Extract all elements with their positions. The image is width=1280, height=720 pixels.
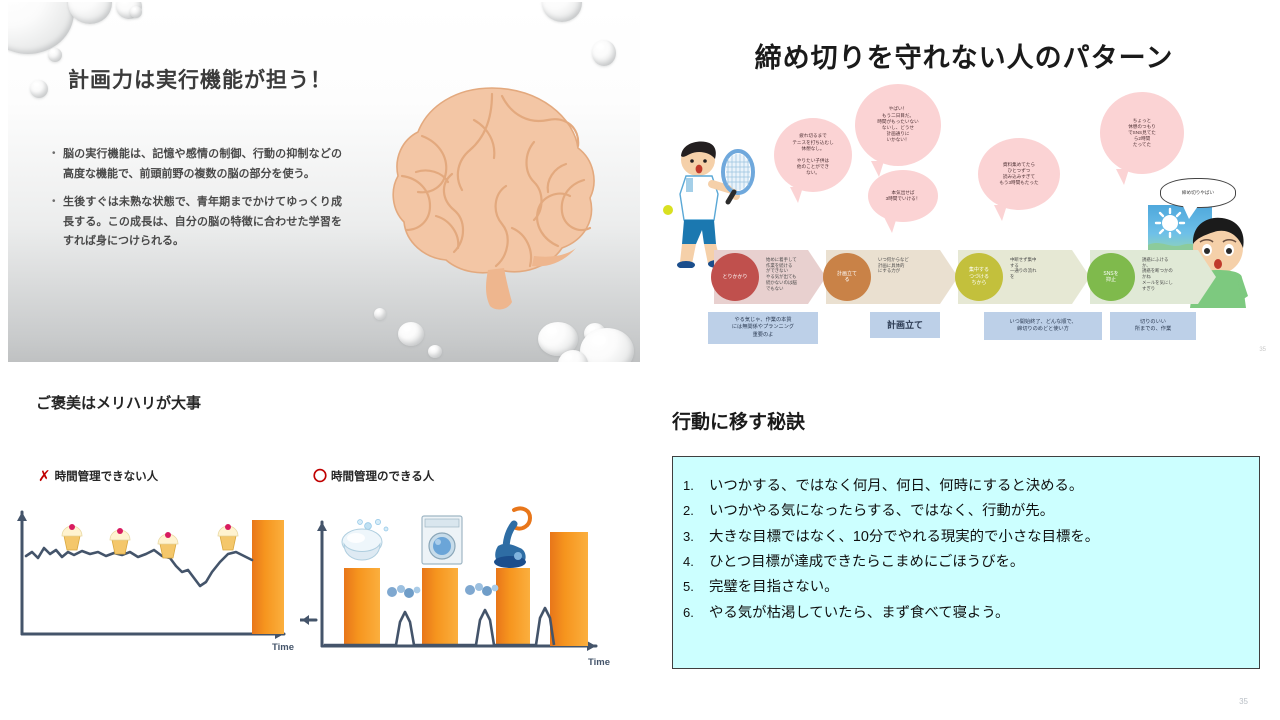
chart-left-axis-label: Time <box>272 642 294 653</box>
flow-step-circle: とりかかり <box>711 253 759 301</box>
bubble-decoration <box>580 328 634 362</box>
bubble-tail <box>790 187 803 203</box>
bubble-decoration <box>48 48 62 62</box>
thought-bubble: 本気出せば 3時間でいける！ <box>868 170 938 222</box>
bullet-item: • 脳の実行機能は、記憶や感情の制御、行動の抑制などの高度な機能で、前頭前野の複… <box>52 145 342 184</box>
thought-bubble-text: ちょっと 休憩のつもり でSNS見てた ら2時間 たってた <box>1128 118 1156 149</box>
bubble-decoration <box>398 322 424 346</box>
bullet-dot-icon: • <box>52 145 63 184</box>
cross-mark-icon: ✗ <box>38 469 51 484</box>
flow-step-circle: 集中する つづける ちから <box>955 253 1003 301</box>
bubble-tail <box>884 217 897 233</box>
slide-reward-title: ご褒美はメリハリが大事 <box>36 392 201 413</box>
flow-step-circle: SNSを 抑止 <box>1087 253 1135 301</box>
flow-step: SNSを 抑止 誘惑にふける か、 誘惑を断つかの かね メールを気にし すぎり <box>1090 250 1216 304</box>
cupcake-icon <box>110 528 130 554</box>
bubble-decoration <box>130 6 142 18</box>
washing-machine-icon <box>422 516 462 564</box>
bubble-decoration <box>68 2 112 24</box>
list-item: 4. ひとつ目標が達成できたらこまめにごほうびを。 <box>683 551 1243 574</box>
slide-page-number: 35 <box>1239 697 1248 706</box>
bubble-decoration <box>592 40 616 66</box>
chart-good-time-management <box>300 502 610 662</box>
thought-bubble: やばい！ もう二日目だ。 時間がもったいない ないし、どうせ 計画通りに いかな… <box>855 84 941 166</box>
slide-page-number: 35 <box>1259 347 1266 353</box>
list-item-number: 5. <box>683 576 709 599</box>
reward-bubble-icon <box>387 585 420 598</box>
flow-step: 計画立て る いつ何からなど 計画に具体的 にする力が <box>826 250 958 304</box>
list-item: 2. いつかやる気になったらする、ではなく、行動が先。 <box>683 500 1243 523</box>
bullet-text: 生後すぐは未熟な状態で、青年期までかけてゆっくり成長する。この成長は、自分の脳の… <box>63 193 342 252</box>
flow-step-text: 中断せず集中 する 一通りの流れ を <box>1010 257 1068 280</box>
cupcake-icon <box>218 524 238 550</box>
white-speech-bubble: 締め切りやばい <box>1160 178 1236 208</box>
list-item-text: 大きな目標ではなく、10分でやれる現実的で小さな目標を。 <box>709 526 1099 549</box>
flow-step-caption: やる気じゃ、作業の本質 には無関係やプランニング 重要のよ <box>708 312 818 344</box>
thought-bubble: 資料集めてたら ひとつずつ 読み込みすぎて もう3時間もたった <box>978 138 1060 210</box>
thought-bubble-text: やばい！ もう二日目だ。 時間がもったいない ないし、どうせ 計画通りに いかな… <box>877 106 918 143</box>
flow-arrow-head <box>1198 250 1216 304</box>
list-item-text: いつかする、ではなく何月、何日、何時にすると決める。 <box>709 475 1083 498</box>
bubble-decoration <box>8 2 74 54</box>
flow-step-circle: 計画立て る <box>823 253 871 301</box>
reward-bubble-icon <box>465 583 498 596</box>
slide-pattern: 締め切りを守れない人のパターン 疲れ切るまで <box>648 0 1280 360</box>
flow-step: とりかかり 始めに着手して 作業を続ける ができない やる気が出ても 続かないの… <box>714 250 826 304</box>
thought-bubble-text: 疲れ切るまで テニスを打ち込むし 休憩なし。 やりたい子供は 他のことができ な… <box>792 133 833 176</box>
chart-left-heading: ✗ 時間管理できない人 <box>38 468 158 484</box>
flow-step-text: いつ何からなど 計画に具体的 にする力が <box>878 257 936 274</box>
list-item-text: いつかやる気になったらする、ではなく、行動が先。 <box>709 500 1054 523</box>
slide-tips-title: 行動に移す秘訣 <box>672 407 805 434</box>
tips-box: 1. いつかする、ではなく何月、何日、何時にすると決める。 2. いつかやる気に… <box>672 456 1260 669</box>
chart-no-time-management <box>12 502 298 642</box>
tips-list: 1. いつかする、ではなく何月、何日、何時にすると決める。 2. いつかやる気に… <box>683 475 1243 625</box>
slide-brain: 計画力は実行機能が担う！ • 脳の実行機能は、記憶や感情の制御、行動の抑制などの… <box>8 2 640 362</box>
dishwashing-icon <box>342 519 388 560</box>
bubble-decoration <box>428 345 442 358</box>
list-item: 5. 完璧を目指さない。 <box>683 576 1243 599</box>
list-item-text: やる気が枯渇していたら、まず食べて寝よう。 <box>709 602 1009 625</box>
slide-brain-bullet-list: • 脳の実行機能は、記憶や感情の制御、行動の抑制などの高度な機能で、前頭前野の複… <box>52 145 342 261</box>
chart-left-label: 時間管理できない人 <box>55 468 159 484</box>
flow-step-text: 始めに着手して 作業を続ける ができない やる気が出ても 続かないのは脳 でもな… <box>766 257 804 291</box>
bubble-tail <box>994 205 1007 221</box>
slide-reward: ご褒美はメリハリが大事 ✗ 時間管理できない人 〇 時間管理のできる人 <box>0 372 648 702</box>
list-item-text: ひとつ目標が達成できたらこまめにごほうびを。 <box>709 551 1024 574</box>
slide-grid: 計画力は実行機能が担う！ • 脳の実行機能は、記憶や感情の制御、行動の抑制などの… <box>0 0 1280 720</box>
thought-bubble-text: 資料集めてたら ひとつずつ 読み込みすぎて もう3時間もたった <box>999 162 1038 187</box>
list-item: 3. 大きな目標ではなく、10分でやれる現実的で小さな目標を。 <box>683 526 1243 549</box>
bubble-tail <box>1116 169 1129 185</box>
flow-step-caption: 計画立て <box>870 312 940 338</box>
bullet-text: 脳の実行機能は、記憶や感情の制御、行動の抑制などの高度な機能で、前頭前野の複数の… <box>63 145 342 184</box>
list-item-text: 完璧を目指さない。 <box>709 576 839 599</box>
list-item-number: 6. <box>683 602 709 625</box>
bubble-decoration <box>542 2 582 22</box>
list-item: 6. やる気が枯渇していたら、まず食べて寝よう。 <box>683 602 1243 625</box>
flow-step-caption: いつ開始終了、どんな順で、 締切りのめどと使い方 <box>984 312 1102 340</box>
bullet-item: • 生後すぐは未熟な状態で、青年期までかけてゆっくり成長する。この成長は、自分の… <box>52 193 342 252</box>
vacuum-cleaner-icon <box>494 508 530 568</box>
list-item-number: 3. <box>683 526 709 549</box>
thought-bubble: 疲れ切るまで テニスを打ち込むし 休憩なし。 やりたい子供は 他のことができ な… <box>774 118 852 192</box>
bubble-decoration <box>30 80 48 98</box>
chart-right-axis-label: Time <box>588 657 610 668</box>
list-item-number: 1. <box>683 475 709 498</box>
tennis-boy-illustration <box>662 140 758 268</box>
chart-right-heading: 〇 時間管理のできる人 <box>313 468 434 484</box>
thought-bubble-text: 本気出せば 3時間でいける！ <box>886 190 921 202</box>
white-bubble-text: 締め切りやばい <box>1182 190 1214 196</box>
list-item: 1. いつかする、ではなく何月、何日、何時にすると決める。 <box>683 475 1243 498</box>
cupcake-icon <box>62 524 82 550</box>
list-item-number: 4. <box>683 551 709 574</box>
slide-brain-title: 計画力は実行機能が担う！ <box>68 64 332 94</box>
flow-step: 集中する つづける ちから 中断せず集中 する 一通りの流れ を <box>958 250 1090 304</box>
thought-bubble: ちょっと 休憩のつもり でSNS見てた ら2時間 たってた <box>1100 92 1184 174</box>
chart-right-label: 時間管理のできる人 <box>331 468 434 484</box>
flow-step-text: 誘惑にふける か、 誘惑を断つかの かね メールを気にし すぎり <box>1142 257 1194 291</box>
bullet-dot-icon: • <box>52 193 63 252</box>
slide-tips: 行動に移す秘訣 1. いつかする、ではなく何月、何日、何時にすると決める。 2.… <box>648 372 1280 720</box>
circle-mark-icon: 〇 <box>313 469 327 483</box>
list-item-number: 2. <box>683 500 709 523</box>
slide-pattern-title: 締め切りを守れない人のパターン <box>648 36 1280 75</box>
brain-illustration <box>384 80 602 310</box>
flow-step-caption: 切りのいい 所までの、作業 <box>1110 312 1196 340</box>
